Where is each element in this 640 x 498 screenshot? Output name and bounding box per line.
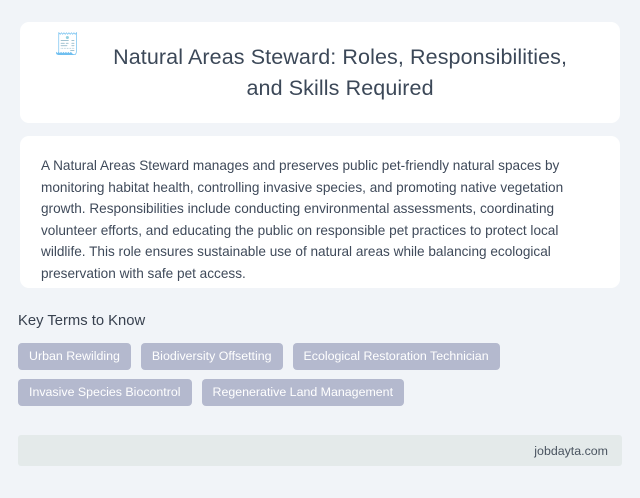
description-text: A Natural Areas Steward manages and pres… xyxy=(41,155,598,285)
key-term-chip[interactable]: Ecological Restoration Technician xyxy=(293,343,500,370)
key-term-chip[interactable]: Invasive Species Biocontrol xyxy=(18,379,192,406)
title-row: 🧾 Natural Areas Steward: Roles, Responsi… xyxy=(54,27,586,118)
key-term-chip[interactable]: Regenerative Land Management xyxy=(202,379,404,406)
key-terms-heading: Key Terms to Know xyxy=(18,311,145,331)
footer-bar: jobdayta.com xyxy=(18,435,622,466)
page-title: Natural Areas Steward: Roles, Responsibi… xyxy=(94,42,586,104)
key-term-chip[interactable]: Biodiversity Offsetting xyxy=(141,343,283,370)
key-terms-chip-list: Urban Rewilding Biodiversity Offsetting … xyxy=(18,343,624,406)
description-card: A Natural Areas Steward manages and pres… xyxy=(20,136,620,288)
title-card: 🧾 Natural Areas Steward: Roles, Responsi… xyxy=(20,22,620,123)
key-term-chip[interactable]: Urban Rewilding xyxy=(18,343,131,370)
page-root: 🧾 Natural Areas Steward: Roles, Responsi… xyxy=(0,0,640,498)
receipt-document-icon: 🧾 xyxy=(54,30,80,60)
footer-site-label: jobdayta.com xyxy=(534,443,608,459)
